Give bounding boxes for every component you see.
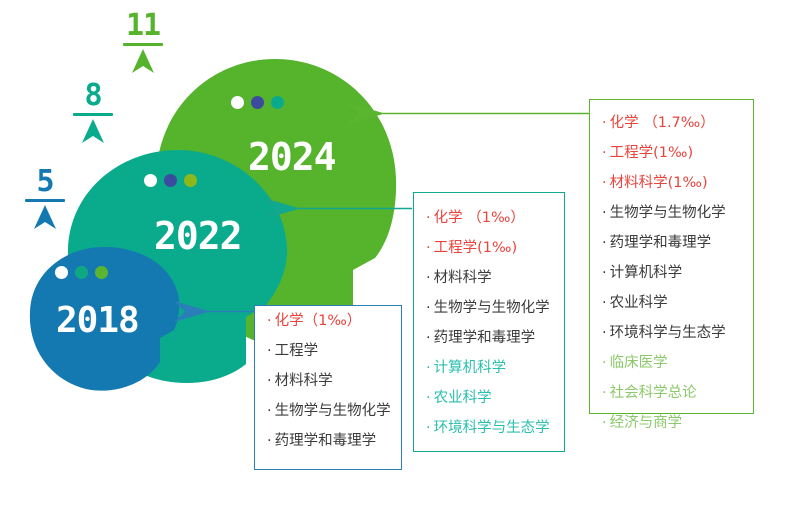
list-item: ·工程学(1‰) — [590, 138, 753, 168]
bubble-2018: 2018 — [28, 246, 180, 392]
bubble-2018-dot-2 — [75, 266, 88, 279]
stat-5-value: 5 — [22, 168, 68, 196]
bullet-icon: · — [267, 433, 272, 449]
bubble-2018-dot-3 — [95, 266, 108, 279]
bullet-icon: · — [602, 295, 607, 311]
list-item: ·材料科学(1‰) — [590, 168, 753, 198]
stat-11-value: 11 — [120, 12, 166, 40]
connector-2018 — [172, 299, 258, 325]
list-item-label: 药理学和毒理学 — [434, 330, 536, 346]
list-item-label: 环境科学与生态学 — [434, 420, 550, 436]
list-item-label: 药理学和毒理学 — [275, 433, 377, 449]
list-item: ·药理学和毒理学 — [590, 228, 753, 258]
bullet-icon: · — [267, 403, 272, 419]
bubble-2024-dot-2 — [251, 96, 264, 109]
list-item-label: 生物学与生物化学 — [610, 205, 726, 221]
stat-11-rule — [123, 43, 163, 46]
list-item: ·农业科学 — [414, 383, 564, 413]
list-item: ·经济与商学 — [590, 408, 753, 438]
list-item-label: 农业科学 — [434, 390, 492, 406]
bubble-2018-year: 2018 — [56, 303, 139, 339]
list-box-2024-items: ·化学 （1.7‰） ·工程学(1‰) ·材料科学(1‰) ·生物学与生物化学 … — [590, 108, 753, 438]
stat-5-rule — [25, 199, 65, 202]
bullet-icon: · — [426, 300, 431, 316]
list-item: ·化学 （1.7‰） — [590, 108, 753, 138]
bullet-icon: · — [602, 235, 607, 251]
infographic-canvas: 2024 2022 2018 5 8 — [0, 0, 798, 513]
stat-5-up-arrow-icon — [33, 204, 57, 230]
stat-8-up-arrow-icon — [81, 118, 105, 144]
bullet-icon: · — [426, 390, 431, 406]
bubble-2022-dot-1 — [144, 174, 157, 187]
list-item-label: 农业科学 — [610, 295, 668, 311]
stat-5: 5 — [22, 168, 68, 230]
list-item: ·生物学与生物化学 — [414, 293, 564, 323]
bubble-2022-dot-3 — [184, 174, 197, 187]
stat-8: 8 — [70, 82, 116, 144]
list-box-2022: ·化学 （1‰） ·工程学(1‰) ·材料科学 ·生物学与生物化学 ·药理学和毒… — [413, 192, 565, 452]
list-item-label: 经济与商学 — [610, 415, 683, 431]
list-item: ·药理学和毒理学 — [255, 426, 401, 456]
list-item-label: 化学 （1.7‰） — [610, 115, 715, 131]
bubble-2018-dots — [55, 266, 108, 279]
list-item: ·材料科学 — [414, 263, 564, 293]
list-item-label: 生物学与生物化学 — [434, 300, 550, 316]
list-item: ·药理学和毒理学 — [414, 323, 564, 353]
bullet-icon: · — [602, 115, 607, 131]
list-item: ·环境科学与生态学 — [414, 413, 564, 443]
connector-2018-arrow-icon — [172, 299, 258, 325]
list-box-2018: ·化学（1‰） ·工程学 ·材料科学 ·生物学与生物化学 ·药理学和毒理学 — [254, 305, 402, 470]
list-item: ·农业科学 — [590, 288, 753, 318]
connector-2022-arrow-icon — [262, 196, 414, 222]
bullet-icon: · — [426, 210, 431, 226]
bullet-icon: · — [602, 175, 607, 191]
bullet-icon: · — [426, 360, 431, 376]
list-item-label: 计算机科学 — [610, 265, 683, 281]
list-item: ·化学 （1‰） — [414, 203, 564, 233]
bullet-icon: · — [602, 385, 607, 401]
list-item: ·环境科学与生态学 — [590, 318, 753, 348]
list-item-label: 社会科学总论 — [610, 385, 697, 401]
list-item: ·计算机科学 — [590, 258, 753, 288]
connector-2022 — [262, 196, 414, 222]
list-item: ·计算机科学 — [414, 353, 564, 383]
bullet-icon: · — [602, 355, 607, 371]
list-item: ·生物学与生物化学 — [255, 396, 401, 426]
bubble-2022-dot-2 — [164, 174, 177, 187]
bullet-icon: · — [602, 415, 607, 431]
list-item-label: 工程学(1‰) — [434, 240, 518, 256]
stat-11: 11 — [120, 12, 166, 74]
bullet-icon: · — [602, 145, 607, 161]
list-item-label: 药理学和毒理学 — [610, 235, 712, 251]
stat-8-value: 8 — [70, 82, 116, 110]
list-item-label: 化学（1‰） — [275, 313, 362, 329]
list-item: ·工程学(1‰) — [414, 233, 564, 263]
list-item-label: 生物学与生物化学 — [275, 403, 391, 419]
bullet-icon: · — [267, 373, 272, 389]
list-item: ·材料科学 — [255, 366, 401, 396]
connector-2024-arrow-icon — [345, 100, 593, 128]
bubble-2022-dots — [144, 174, 197, 187]
list-item-label: 计算机科学 — [434, 360, 507, 376]
list-item: ·化学（1‰） — [255, 306, 401, 336]
list-item: ·工程学 — [255, 336, 401, 366]
bullet-icon: · — [602, 265, 607, 281]
bubble-2018-dot-1 — [55, 266, 68, 279]
list-box-2018-items: ·化学（1‰） ·工程学 ·材料科学 ·生物学与生物化学 ·药理学和毒理学 — [255, 306, 401, 456]
bullet-icon: · — [426, 270, 431, 286]
bullet-icon: · — [602, 205, 607, 221]
bullet-icon: · — [267, 313, 272, 329]
bullet-icon: · — [426, 330, 431, 346]
bullet-icon: · — [426, 240, 431, 256]
bullet-icon: · — [602, 325, 607, 341]
list-item-label: 材料科学(1‰) — [610, 175, 708, 191]
list-item-label: 材料科学 — [434, 270, 492, 286]
bubble-2024-dot-1 — [231, 96, 244, 109]
list-item: ·社会科学总论 — [590, 378, 753, 408]
list-item: ·临床医学 — [590, 348, 753, 378]
list-item-label: 临床医学 — [610, 355, 668, 371]
list-box-2022-items: ·化学 （1‰） ·工程学(1‰) ·材料科学 ·生物学与生物化学 ·药理学和毒… — [414, 203, 564, 443]
list-item-label: 化学 （1‰） — [434, 210, 525, 226]
bubble-2024-dot-3 — [271, 96, 284, 109]
bullet-icon: · — [267, 343, 272, 359]
list-box-2024: ·化学 （1.7‰） ·工程学(1‰) ·材料科学(1‰) ·生物学与生物化学 … — [589, 99, 754, 414]
list-item-label: 环境科学与生态学 — [610, 325, 726, 341]
list-item-label: 材料科学 — [275, 373, 333, 389]
stat-8-rule — [73, 113, 113, 116]
list-item-label: 工程学(1‰) — [610, 145, 694, 161]
bubble-2024-dots — [231, 96, 284, 109]
list-item: ·生物学与生物化学 — [590, 198, 753, 228]
connector-2024 — [345, 100, 593, 128]
list-item-label: 工程学 — [275, 343, 319, 359]
bullet-icon: · — [426, 420, 431, 436]
stat-11-up-arrow-icon — [131, 48, 155, 74]
